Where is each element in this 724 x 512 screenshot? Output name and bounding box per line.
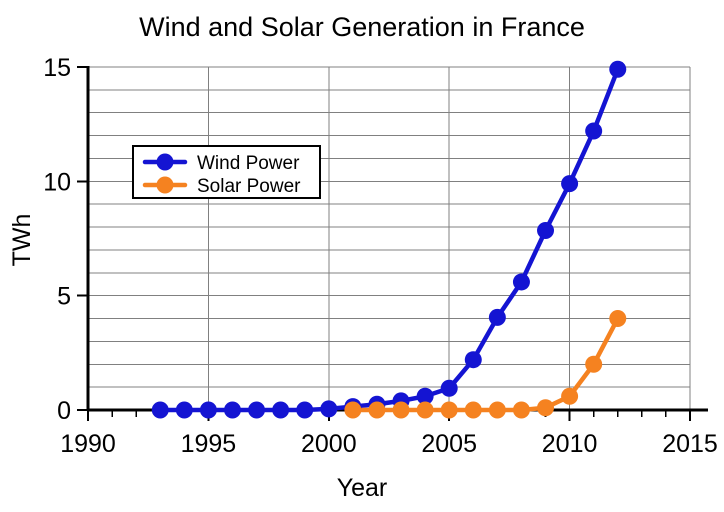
y-tick-label: 5 [57, 283, 71, 311]
data-point-marker [537, 399, 554, 416]
legend-swatch-marker [157, 177, 174, 194]
data-point-marker [585, 123, 602, 140]
x-tick-label: 2005 [421, 430, 477, 458]
data-point-marker [344, 402, 361, 419]
data-point-marker [393, 402, 410, 419]
data-point-marker [489, 402, 506, 419]
data-point-marker [417, 402, 434, 419]
x-tick-label: 2000 [301, 430, 357, 458]
chart-legend: Wind PowerSolar Power [133, 146, 320, 198]
data-point-marker [224, 402, 241, 419]
y-tick-label: 0 [57, 397, 71, 425]
data-point-marker [609, 61, 626, 78]
data-point-marker [561, 388, 578, 405]
legend-swatch-marker [157, 154, 174, 171]
data-point-marker [465, 351, 482, 368]
data-point-marker [152, 402, 169, 419]
x-tick-label: 1990 [60, 430, 116, 458]
data-point-marker [176, 402, 193, 419]
data-point-marker [609, 310, 626, 327]
chart-canvas: Wind and Solar Generation in France 0510… [0, 0, 724, 512]
data-point-marker [368, 402, 385, 419]
data-point-marker [513, 402, 530, 419]
y-axis-label: TWh [8, 214, 36, 267]
data-point-marker [296, 402, 313, 419]
data-point-marker [489, 309, 506, 326]
data-point-marker [561, 175, 578, 192]
data-point-marker [248, 402, 265, 419]
y-tick-label: 10 [43, 168, 71, 196]
data-point-marker [441, 380, 458, 397]
chart-title: Wind and Solar Generation in France [139, 12, 585, 42]
x-axis-label: Year [337, 474, 388, 502]
legend-label: Wind Power [197, 153, 300, 174]
chart-figure: Wind and Solar Generation in France 0510… [0, 0, 724, 512]
data-point-marker [585, 356, 602, 373]
data-point-marker [320, 400, 337, 417]
data-point-marker [513, 273, 530, 290]
data-point-marker [272, 402, 289, 419]
y-tick-label: 15 [43, 54, 71, 82]
data-point-marker [441, 402, 458, 419]
x-tick-label: 1995 [181, 430, 237, 458]
data-point-marker [537, 222, 554, 239]
x-tick-label: 2010 [542, 430, 598, 458]
data-point-marker [465, 402, 482, 419]
legend-label: Solar Power [197, 176, 301, 197]
x-tick-label: 2015 [662, 430, 718, 458]
data-point-marker [200, 402, 217, 419]
